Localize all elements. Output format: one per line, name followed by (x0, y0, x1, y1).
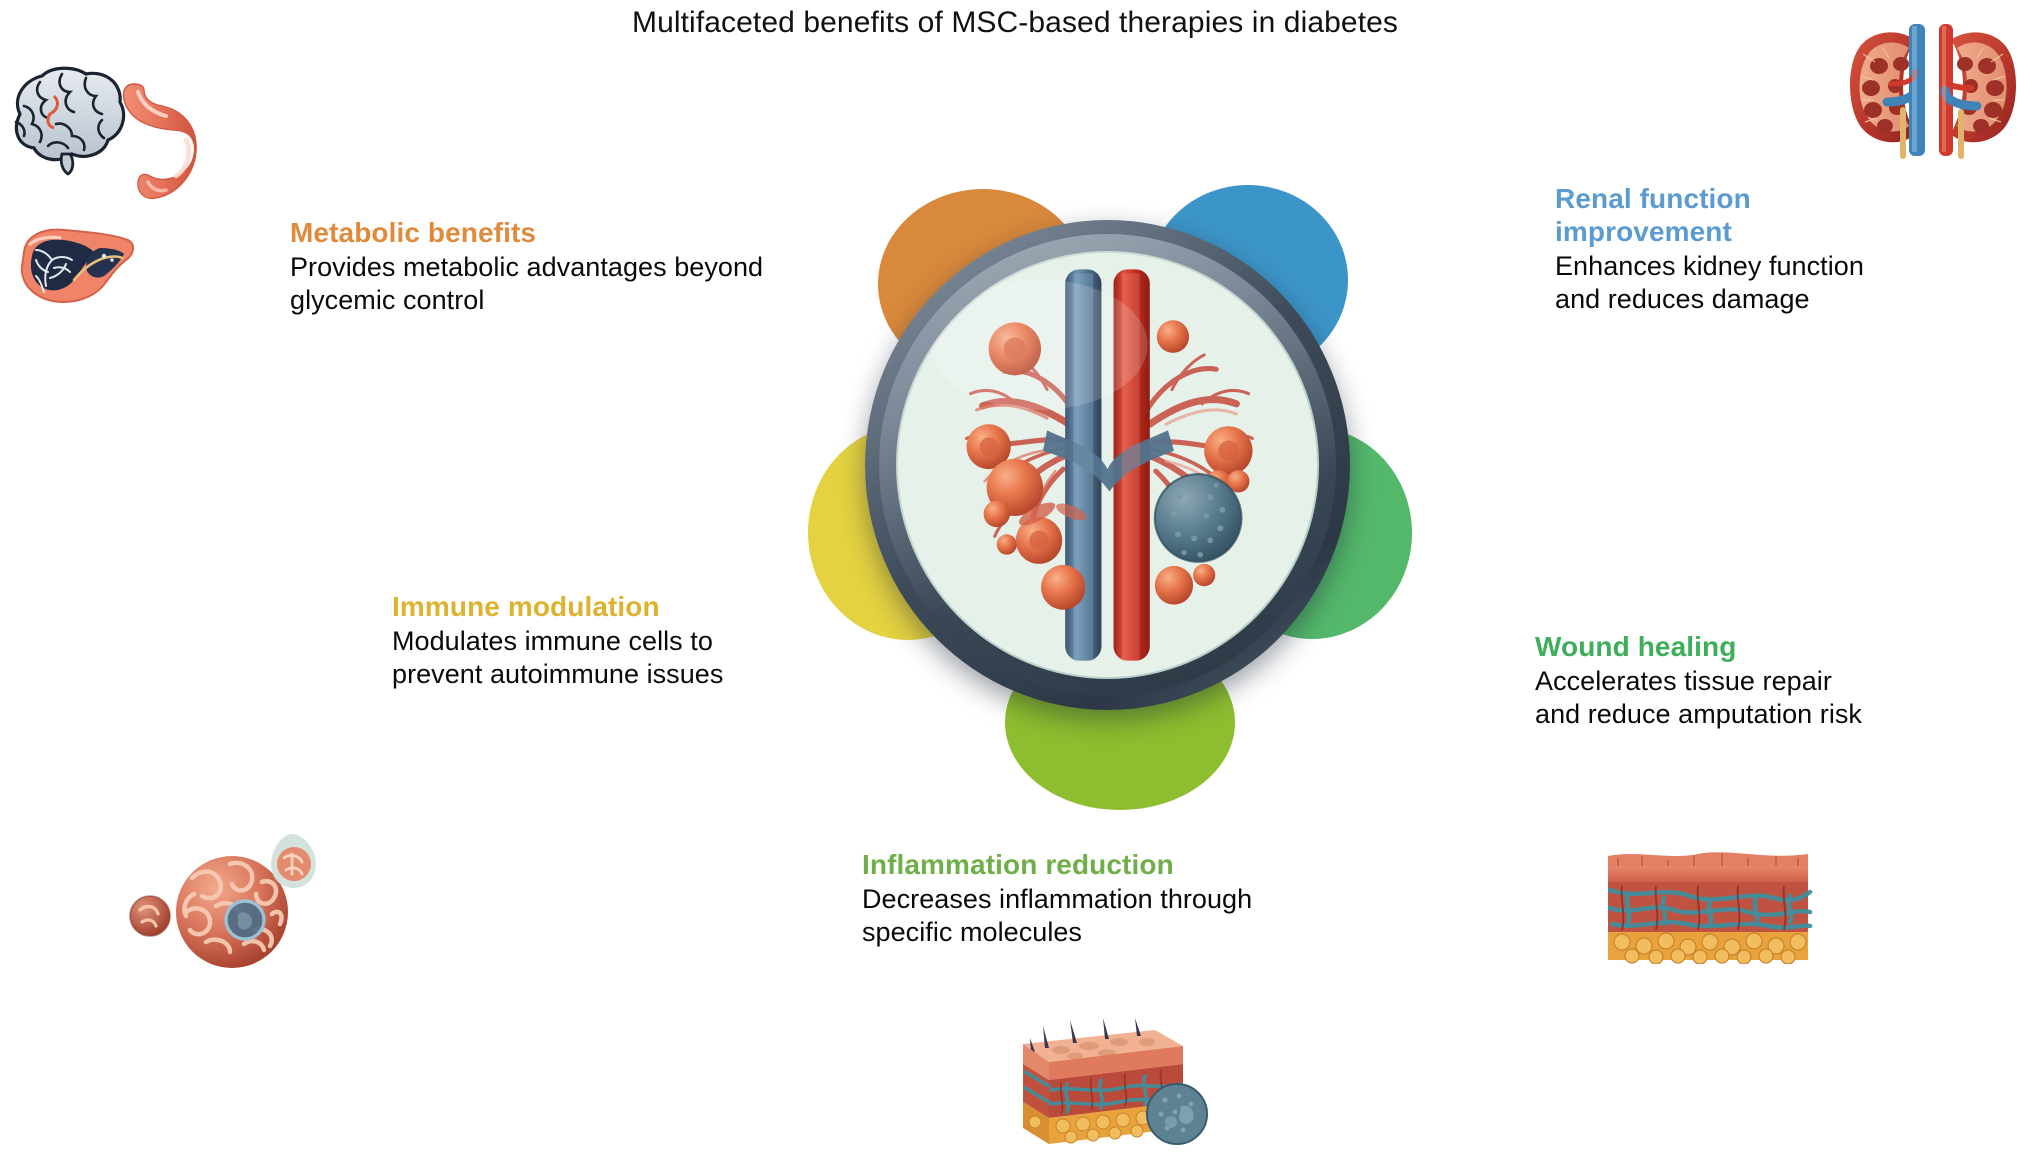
stem-cells-icon (120, 820, 335, 980)
kidneys-icon (1843, 6, 2023, 166)
center-illustration (780, 175, 1450, 845)
page-title: Multifaceted benefits of MSC-based thera… (0, 0, 2030, 42)
callout-wound-body: Accelerates tissue repair and reduce amp… (1535, 665, 1865, 731)
stomach-icon (112, 78, 200, 203)
skin-with-immune-cell-icon (1005, 1018, 1215, 1152)
callout-renal: Renal function improvement Enhances kidn… (1555, 182, 1885, 316)
mesenchymal-stem-cell (1155, 474, 1242, 562)
callout-immune-body: Modulates immune cells to prevent autoim… (392, 625, 792, 691)
petri-dish-well (896, 251, 1319, 679)
petri-dish (865, 220, 1350, 710)
callout-metabolic: Metabolic benefits Provides metabolic ad… (290, 216, 810, 317)
liver-icon (8, 218, 138, 316)
callout-inflammation-heading: Inflammation reduction (862, 848, 1322, 881)
callout-metabolic-heading: Metabolic benefits (290, 216, 810, 249)
callout-metabolic-body: Provides metabolic advantages beyond gly… (290, 251, 810, 317)
callout-immune: Immune modulation Modulates immune cells… (392, 590, 792, 691)
callout-wound-heading: Wound healing (1535, 630, 1865, 663)
callout-inflammation: Inflammation reduction Decreases inflamm… (862, 848, 1322, 949)
callout-renal-body: Enhances kidney function and reduces dam… (1555, 250, 1885, 316)
callout-immune-heading: Immune modulation (392, 590, 792, 623)
callout-renal-heading: Renal function improvement (1555, 182, 1885, 248)
callout-inflammation-body: Decreases inflammation through specific … (862, 883, 1322, 949)
callout-wound: Wound healing Accelerates tissue repair … (1535, 630, 1865, 731)
skin-cross-section-icon (1598, 846, 1818, 964)
